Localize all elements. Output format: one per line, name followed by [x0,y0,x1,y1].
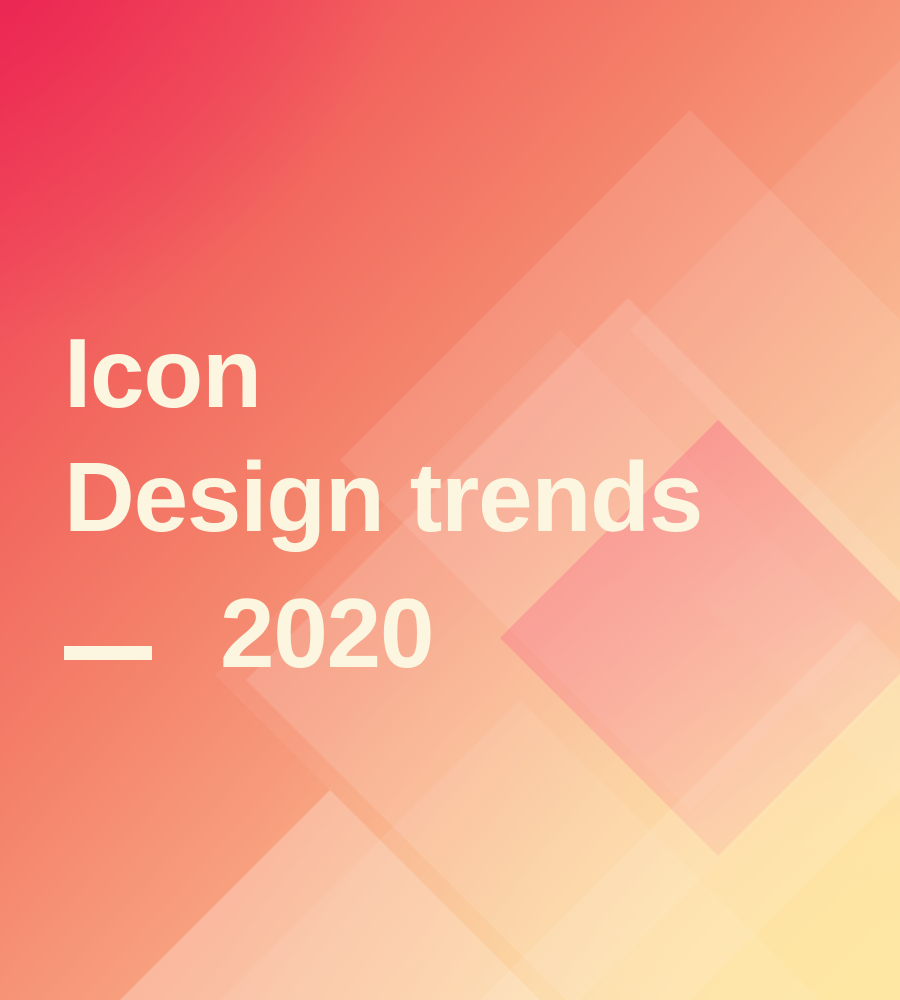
headline-line-icon: Icon [64,324,261,422]
headline-year-text: 2020 [220,584,433,682]
headline-line-year: 2020 [64,584,433,682]
headline-line-design-trends: Design trends [64,448,702,546]
em-dash-rule [64,646,152,660]
headline-block: Icon Design trends 2020 [0,0,900,1000]
design-poster: Icon Design trends 2020 [0,0,900,1000]
